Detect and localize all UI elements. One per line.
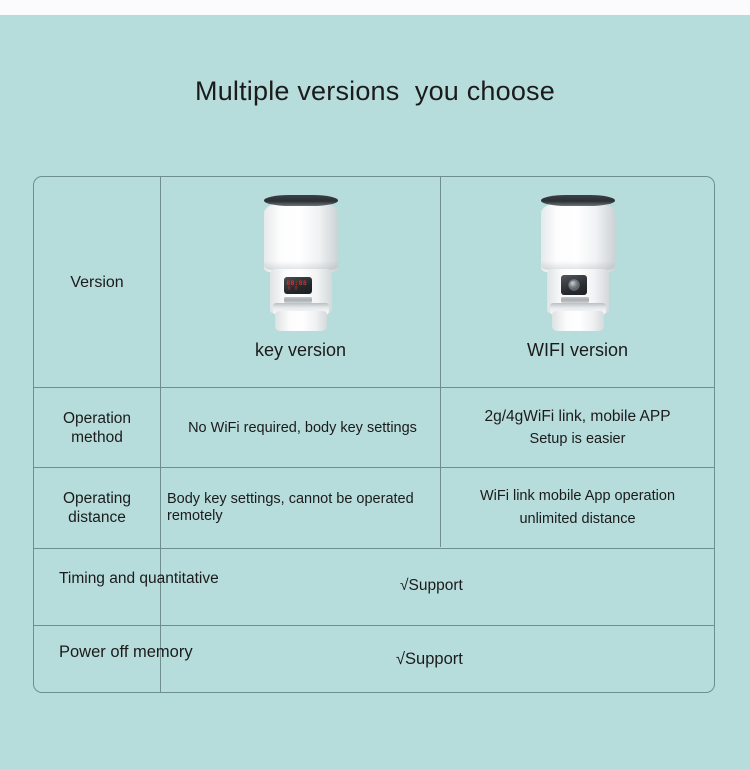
feeder-lid bbox=[264, 195, 338, 206]
wifi-version-caption: WIFI version bbox=[441, 340, 714, 361]
cell-operation-method-wifi-line2: Setup is easier bbox=[530, 428, 626, 451]
row-label-operation-method-line1: Operation bbox=[63, 409, 131, 428]
top-white-band bbox=[0, 0, 750, 15]
cell-operation-method-key: No WiFi required, body key settings bbox=[165, 388, 440, 467]
row-label-operating-distance-line2: distance bbox=[68, 508, 126, 527]
feeder-lid bbox=[541, 195, 615, 206]
row-label-operating-distance: Operating distance bbox=[34, 468, 160, 548]
comparison-table: Version 88:88 0 0 key version bbox=[33, 176, 715, 693]
feeder-dispense-slot bbox=[284, 297, 312, 303]
cell-power-off-memory-value: √Support bbox=[396, 650, 463, 669]
pet-feeder-key-version-image: 88:88 0 0 bbox=[258, 195, 344, 331]
feeder-base bbox=[275, 311, 327, 331]
row-label-timing-and-quantitative: Timing and quantitative bbox=[59, 569, 219, 588]
cell-operating-distance-wifi-line2: unlimited distance bbox=[519, 508, 635, 531]
cell-operation-method-wifi-line1: 2g/4gWiFi link, mobile APP bbox=[484, 405, 670, 428]
page-root: Multiple versions you choose Version bbox=[0, 0, 750, 769]
row-label-power-off-memory: Power off memory bbox=[59, 643, 193, 662]
feeder-camera-panel bbox=[561, 275, 587, 295]
wifi-version-image-wrap bbox=[441, 191, 714, 331]
feeder-base bbox=[552, 311, 604, 331]
row-divider-4 bbox=[34, 625, 714, 626]
cell-operating-distance-key: Body key settings, cannot be operated re… bbox=[165, 468, 440, 548]
row-label-operation-method: Operation method bbox=[34, 388, 160, 467]
key-version-image-wrap: 88:88 0 0 bbox=[161, 191, 440, 331]
feeder-led-display-panel: 88:88 0 0 bbox=[284, 277, 312, 294]
cell-version-wifi: WIFI version bbox=[441, 177, 714, 387]
cell-operation-method-wifi: 2g/4gWiFi link, mobile APP Setup is easi… bbox=[441, 388, 714, 467]
cell-timing-and-quantitative-value: √Support bbox=[400, 577, 463, 595]
pet-feeder-wifi-version-image bbox=[535, 195, 621, 331]
cell-version-key: 88:88 0 0 key version bbox=[161, 177, 440, 387]
feeder-dispense-slot bbox=[561, 297, 589, 303]
page-title: Multiple versions you choose bbox=[0, 76, 750, 107]
led-digits-sub: 0 0 bbox=[288, 287, 299, 292]
row-label-operating-distance-line1: Operating bbox=[63, 489, 131, 508]
row-label-operation-method-line2: method bbox=[71, 428, 123, 447]
row-label-version: Version bbox=[34, 177, 160, 387]
camera-lens-icon bbox=[569, 281, 578, 290]
cell-operating-distance-wifi: WiFi link mobile App operation unlimited… bbox=[441, 468, 714, 548]
cell-operating-distance-wifi-line1: WiFi link mobile App operation bbox=[480, 485, 675, 508]
key-version-caption: key version bbox=[161, 340, 440, 361]
row-divider-3 bbox=[34, 548, 714, 549]
